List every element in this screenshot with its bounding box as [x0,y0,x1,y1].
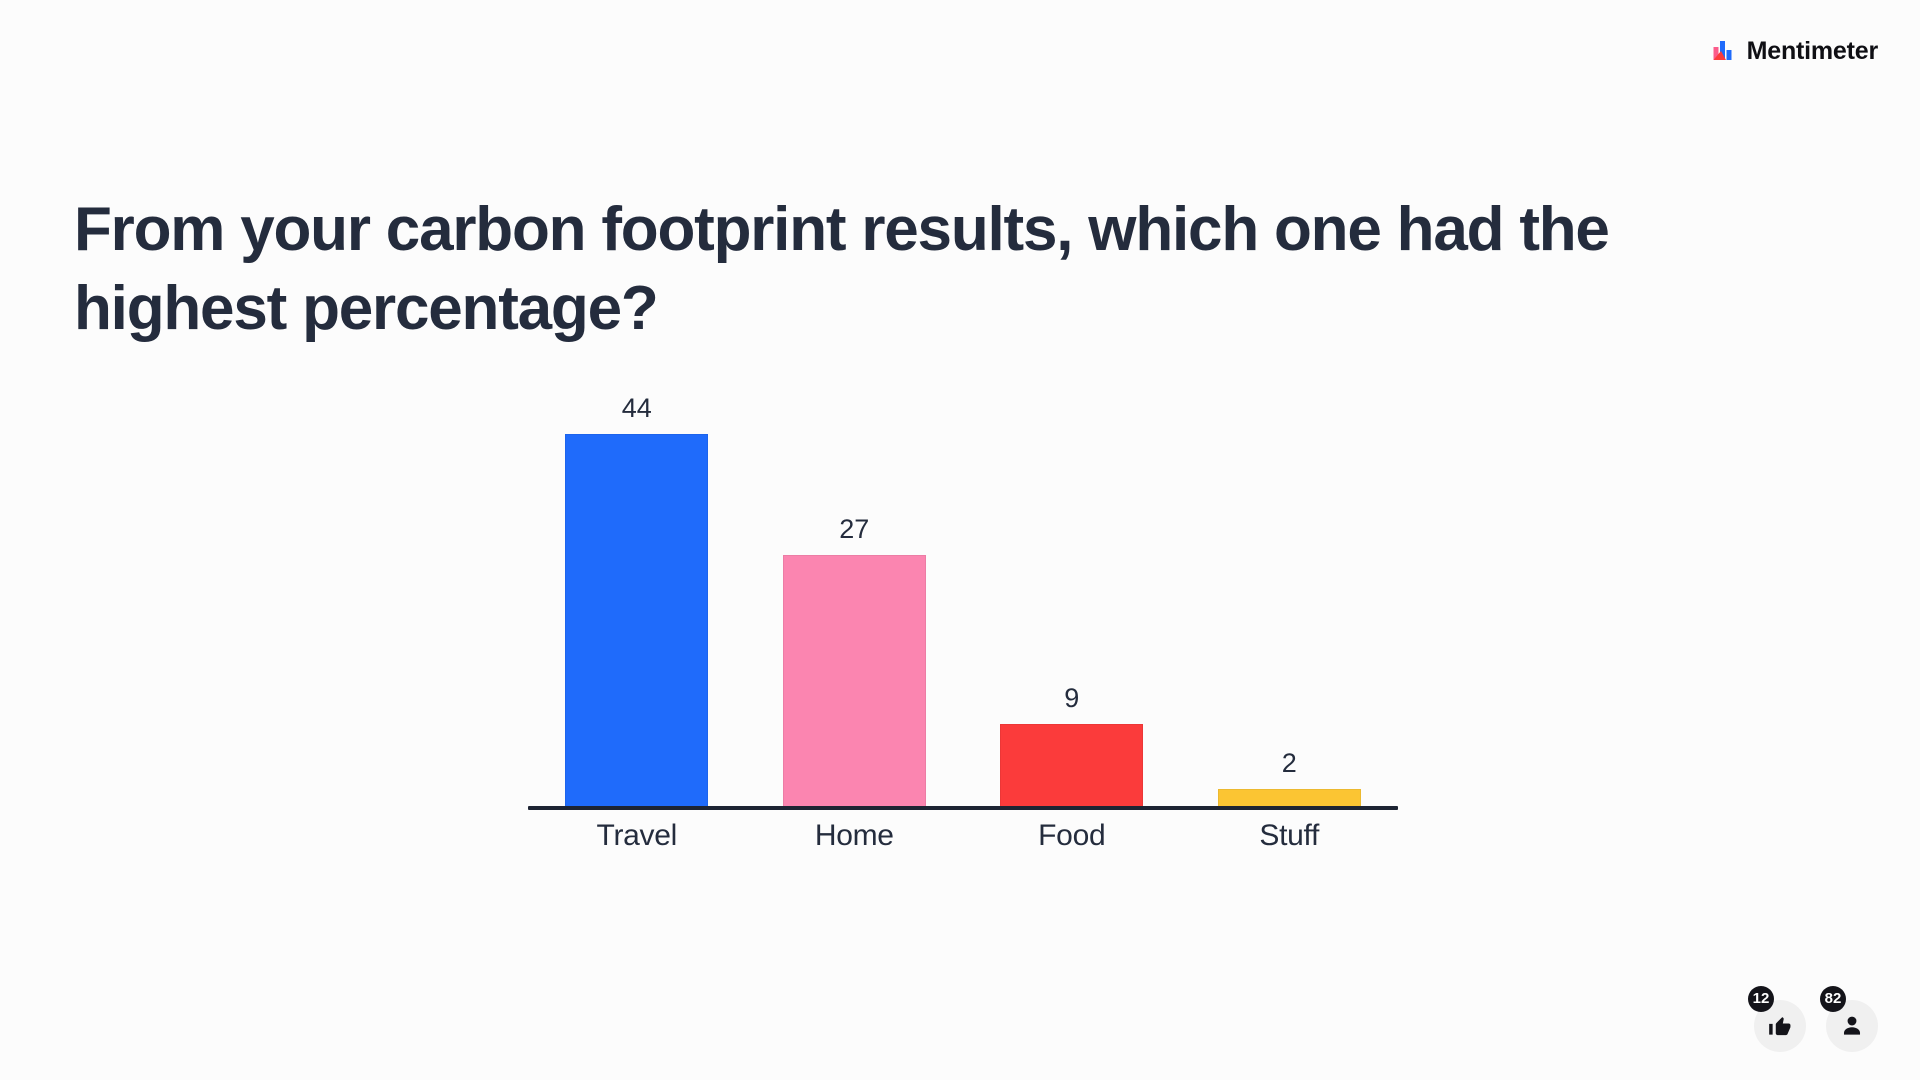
bar-value-stuff: 2 [1282,750,1297,777]
footer-badges: 12 82 [1754,1000,1878,1052]
bar-chart: 44 27 9 2 Travel Home Food Stuff [528,395,1398,860]
bar-group-travel: 44 [528,395,746,808]
bar-group-food: 9 [963,395,1181,808]
bar-travel [565,434,708,808]
axis-label-travel: Travel [528,814,746,858]
bar-group-stuff: 2 [1181,395,1399,808]
axis-label-home: Home [746,814,964,858]
chart-category-labels: Travel Home Food Stuff [528,814,1398,858]
bar-home [783,555,926,808]
bar-value-food: 9 [1064,685,1079,712]
bar-food [1000,724,1143,808]
votes-badge[interactable]: 12 [1754,1000,1806,1052]
bar-value-home: 27 [839,516,869,543]
chart-plot-area: 44 27 9 2 [528,395,1398,808]
chart-baseline-axis [528,806,1398,810]
brand-name: Mentimeter [1747,39,1878,64]
mentimeter-brand: Mentimeter [1712,38,1878,64]
votes-count: 12 [1748,986,1774,1012]
participants-count: 82 [1820,986,1846,1012]
axis-label-stuff: Stuff [1181,814,1399,858]
bar-value-travel: 44 [622,395,652,422]
bar-group-home: 27 [746,395,964,808]
participants-badge[interactable]: 82 [1826,1000,1878,1052]
page-title: From your carbon footprint results, whic… [74,190,1714,349]
mentimeter-bars-icon [1712,38,1738,64]
person-icon [1839,1013,1865,1039]
axis-label-food: Food [963,814,1181,858]
thumbs-up-icon [1767,1013,1793,1039]
